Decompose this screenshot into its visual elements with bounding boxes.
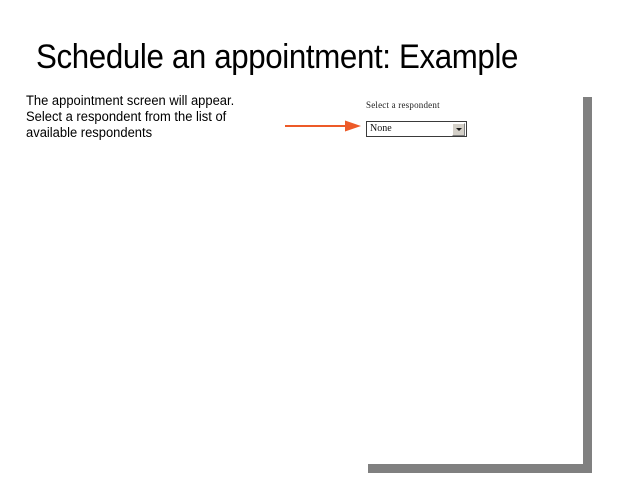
respondent-select[interactable]: None (366, 121, 467, 137)
arrow-right-icon (285, 118, 365, 134)
embedded-screenshot-panel (359, 88, 583, 464)
caret-glyph (456, 128, 462, 131)
page-title: Schedule an appointment: Example (36, 38, 570, 76)
chevron-down-icon[interactable] (452, 123, 465, 136)
respondent-select-value: None (367, 122, 392, 136)
body-text: The appointment screen will appear. Sele… (26, 93, 249, 141)
slide-canvas: Schedule an appointment: Example The app… (0, 0, 640, 480)
respondent-field-label: Select a respondent (366, 100, 440, 111)
